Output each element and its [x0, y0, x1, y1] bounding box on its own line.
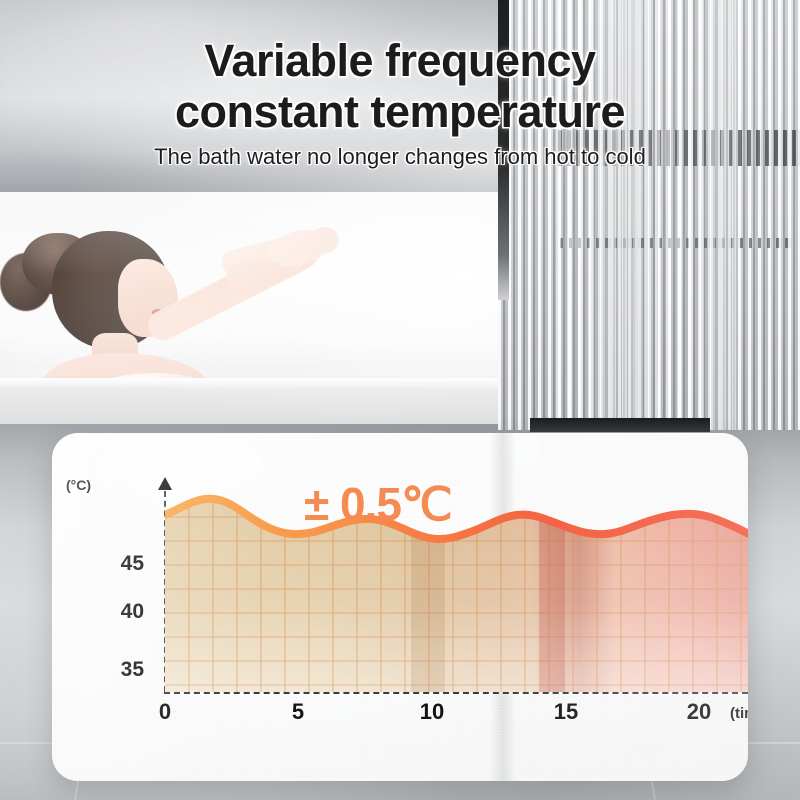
x-tick-5: 5 — [275, 699, 321, 725]
temperature-plot-svg — [165, 493, 748, 692]
tolerance-annotation: ± 0.5℃ — [304, 477, 452, 531]
plot-area — [165, 493, 748, 692]
x-axis-line — [164, 692, 748, 694]
temperature-chart-card: (°C) 45 40 35 — [52, 433, 748, 781]
y-axis-arrow-icon — [158, 477, 172, 490]
glass-dark-edge — [498, 0, 509, 300]
y-axis-unit-label: (°C) — [66, 477, 91, 493]
glass-panel-base — [530, 418, 710, 432]
y-tick-35: 35 — [100, 658, 144, 682]
x-tick-0: 0 — [142, 699, 188, 725]
x-axis-unit-label: (time) — [730, 705, 748, 722]
y-tick-40: 40 — [100, 600, 144, 624]
x-tick-15: 15 — [543, 699, 589, 725]
x-tick-10: 10 — [409, 699, 455, 725]
glass-rod-highlights — [556, 0, 736, 430]
x-tick-20: 20 — [676, 699, 722, 725]
promo-banner: Variable frequency constant temperature … — [0, 0, 800, 800]
y-tick-45: 45 — [100, 552, 144, 576]
